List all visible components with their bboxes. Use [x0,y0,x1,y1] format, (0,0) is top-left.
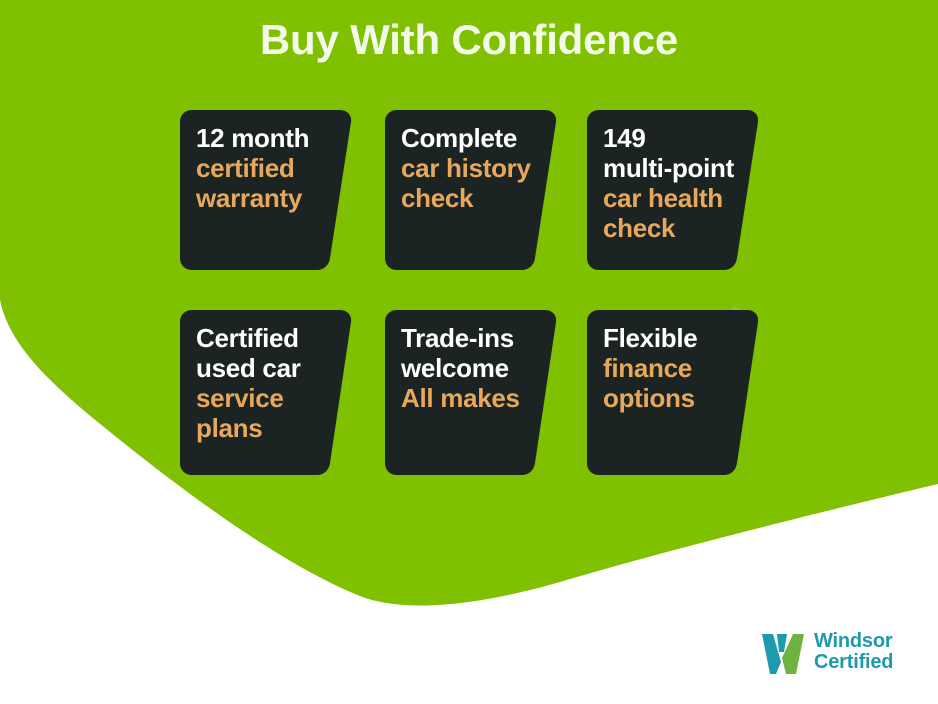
card-complete-car-history-check[interactable]: Complete car history check [385,110,565,270]
card-line: Complete [401,123,551,153]
windsor-w-mark-icon [760,630,806,674]
card-line: warranty [196,183,346,213]
card-text-block: Trade-ins welcome All makes [401,323,551,413]
card-line: plans [196,413,346,443]
page-title: Buy With Confidence [0,16,938,64]
card-line: check [603,213,753,243]
card-flexible-finance-options[interactable]: Flexible finance options [587,310,767,475]
card-text-block: Certified used car service plans [196,323,346,443]
card-line: welcome [401,353,551,383]
card-line: multi-point [603,153,753,183]
card-line: car health [603,183,753,213]
logo-line-1: Windsor [814,631,893,652]
card-line: Flexible [603,323,753,353]
logo-wordmark: Windsor Certified [814,631,893,673]
card-line: service [196,383,346,413]
card-text-block: Flexible finance options [603,323,753,413]
poster-canvas: Buy With Confidence 12 month certified w… [0,0,938,704]
card-text-block: 149 multi-point car health check [603,123,753,243]
card-line: 149 [603,123,753,153]
card-line: certified [196,153,346,183]
card-line: Trade-ins [401,323,551,353]
card-certified-used-car-service-plans[interactable]: Certified used car service plans [180,310,360,475]
card-line: 12 month [196,123,346,153]
card-line: check [401,183,551,213]
card-line: options [603,383,753,413]
card-line: car history [401,153,551,183]
card-12-month-certified-warranty[interactable]: 12 month certified warranty [180,110,360,270]
card-line: Certified [196,323,346,353]
card-text-block: 12 month certified warranty [196,123,346,213]
card-text-block: Complete car history check [401,123,551,213]
card-line: used car [196,353,346,383]
windsor-certified-logo[interactable]: Windsor Certified [760,630,893,674]
card-line: finance [603,353,753,383]
card-149-multi-point-car-health-check[interactable]: 149 multi-point car health check [587,110,767,270]
card-trade-ins-welcome-all-makes[interactable]: Trade-ins welcome All makes [385,310,565,475]
logo-line-2: Certified [814,652,893,673]
card-line: All makes [401,383,551,413]
